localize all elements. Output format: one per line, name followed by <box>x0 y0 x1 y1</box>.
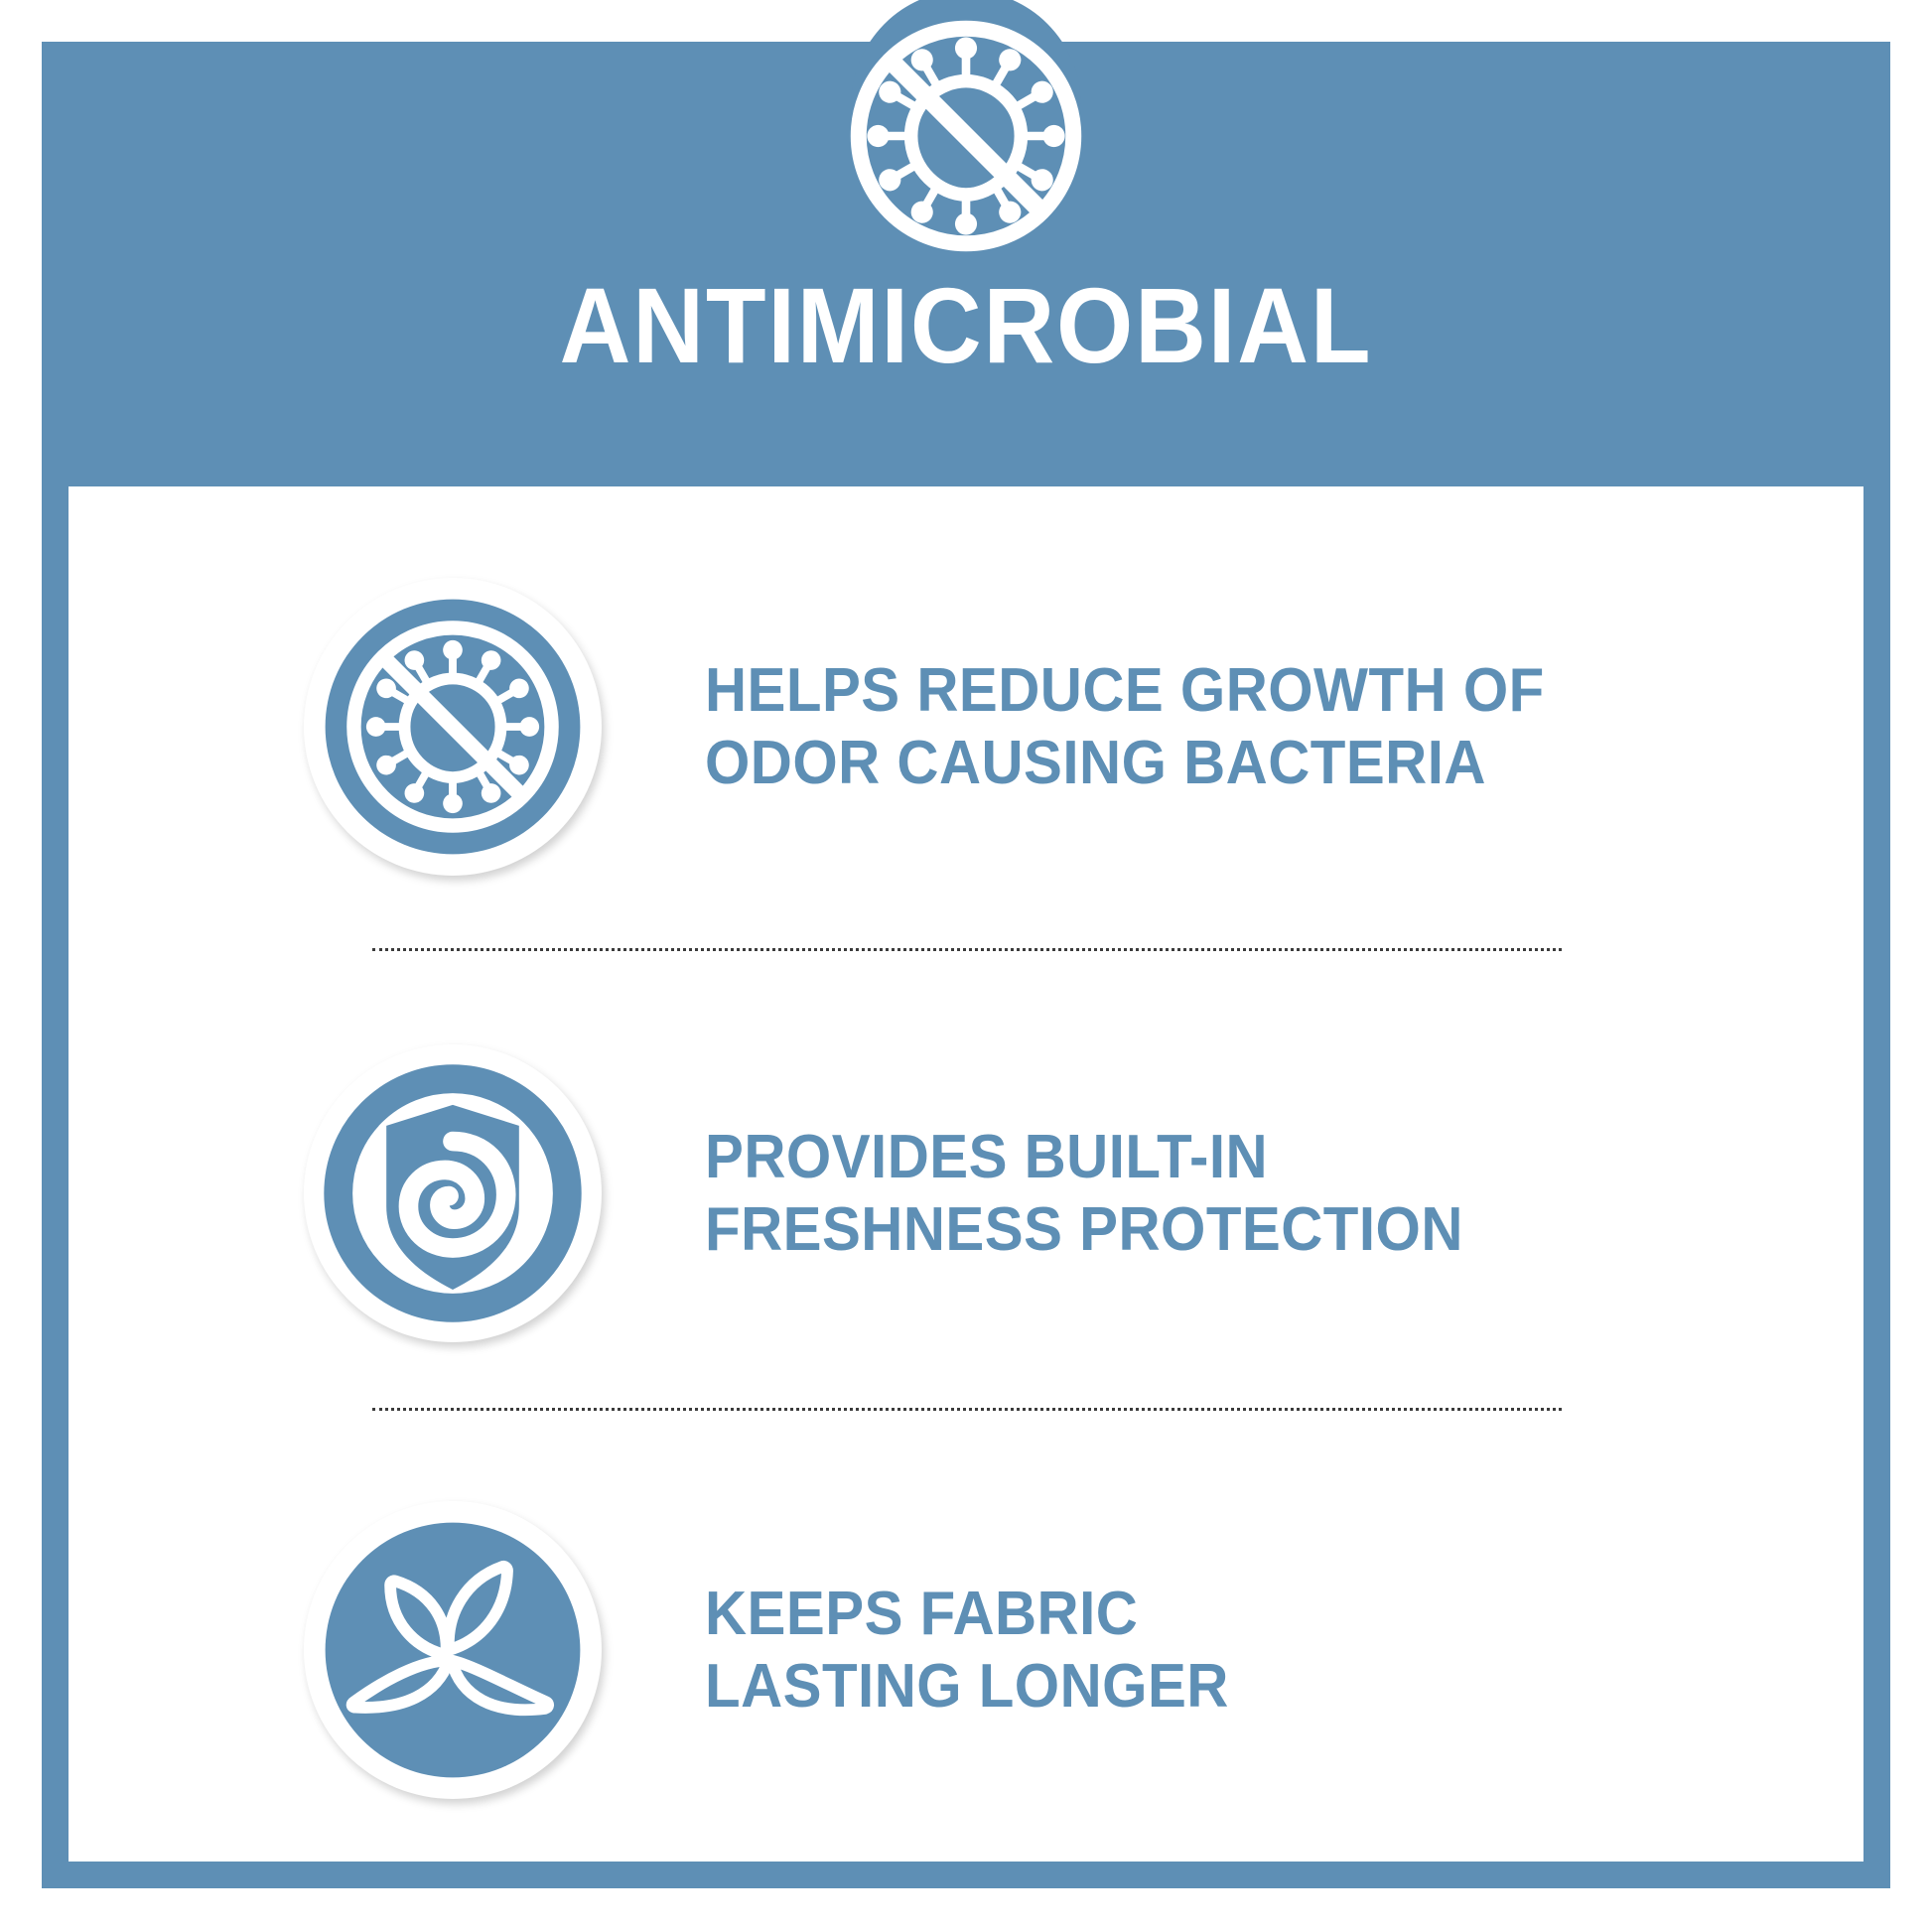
leaf-sprout-icon <box>304 1501 602 1799</box>
feature-line-1: KEEPS FABRIC <box>705 1578 1229 1650</box>
shield-swirl-icon <box>304 1044 602 1342</box>
feature-text: HELPS REDUCE GROWTH OF ODOR CAUSING BACT… <box>705 654 1545 799</box>
feature-line-1: PROVIDES BUILT-IN <box>705 1121 1463 1193</box>
no-germ-icon <box>844 14 1088 258</box>
feature-row: HELPS REDUCE GROWTH OF ODOR CAUSING BACT… <box>69 568 1863 886</box>
feature-line-2: LASTING LONGER <box>705 1650 1229 1723</box>
feature-text: PROVIDES BUILT-IN FRESHNESS PROTECTION <box>705 1121 1463 1266</box>
row-separator <box>372 948 1562 951</box>
header-band: ANTIMICROBIAL <box>42 42 1890 486</box>
feature-line-2: FRESHNESS PROTECTION <box>705 1193 1463 1266</box>
feature-row: PROVIDES BUILT-IN FRESHNESS PROTECTION <box>69 1035 1863 1352</box>
page-title: ANTIMICROBIAL <box>115 272 1816 379</box>
feature-line-2: ODOR CAUSING BACTERIA <box>705 727 1545 799</box>
no-germ-circle-icon <box>304 578 602 876</box>
feature-text: KEEPS FABRIC LASTING LONGER <box>705 1578 1229 1723</box>
feature-row: KEEPS FABRIC LASTING LONGER <box>69 1491 1863 1809</box>
feature-list: HELPS REDUCE GROWTH OF ODOR CAUSING BACT… <box>69 486 1863 1862</box>
row-separator <box>372 1408 1562 1411</box>
feature-line-1: HELPS REDUCE GROWTH OF <box>705 654 1545 727</box>
antimicrobial-infographic: ANTIMICROBIAL <box>0 0 1932 1932</box>
